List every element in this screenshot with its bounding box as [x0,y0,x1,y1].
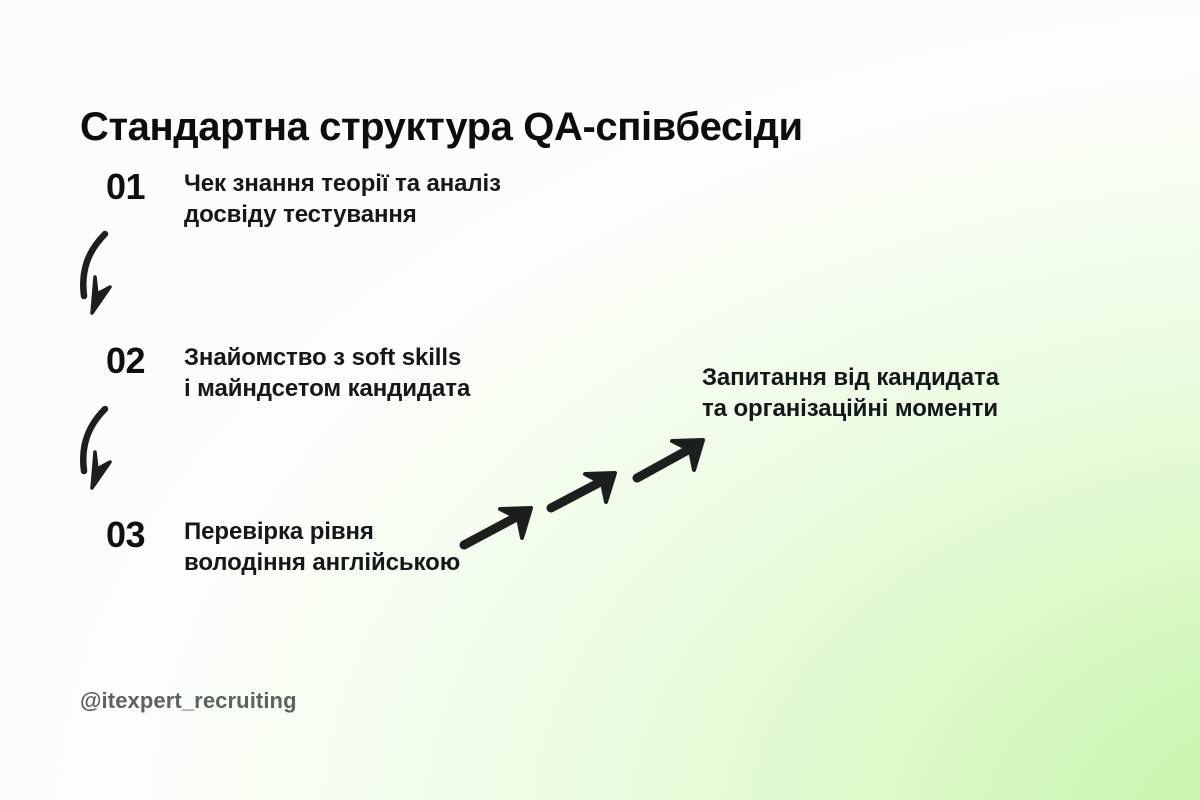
step-item-01: 01 Чек знання теорії та аналіз досвіду т… [106,168,501,230]
diagonal-up-arrow-icon-3 [637,440,703,478]
step-number-01: 01 [106,168,184,206]
step-item-02: 02 Знайомство з soft skills і майндсетом… [106,342,470,404]
step-item-03: 03 Перевірка рівня володіння англійською [106,516,460,578]
step-number-03: 03 [106,516,184,554]
curved-down-arrow-icon-2 [83,409,110,488]
step-text-03: Перевірка рівня володіння англійською [184,516,460,578]
diagonal-up-arrow-icon-2 [551,473,615,508]
curved-down-arrow-icon-1 [83,234,110,313]
step-text-02: Знайомство з soft skills і майндсетом ка… [184,342,470,404]
step-number-02: 02 [106,342,184,380]
final-step-text: Запитання від кандидата та організаційні… [702,362,1122,424]
step-text-01: Чек знання теорії та аналіз досвіду тест… [184,168,501,230]
page-title: Стандартна структура QA-співбесіди [80,103,1080,151]
infographic-canvas: Стандартна структура QA-співбесіди 01 Че… [0,0,1200,800]
diagonal-up-arrow-icon-1 [464,508,531,545]
account-handle: @itexpert_recruiting [80,688,297,714]
